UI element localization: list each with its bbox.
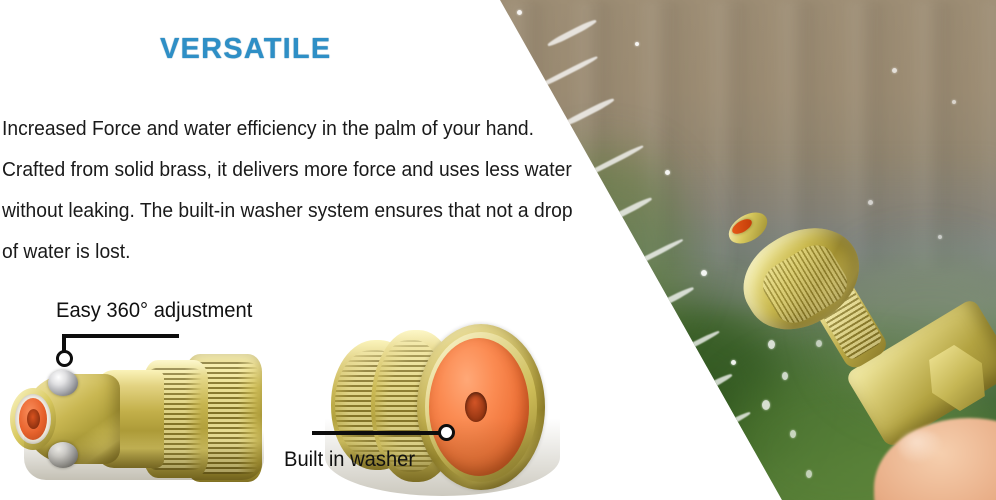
washer-center-hole <box>465 392 487 422</box>
annotation-label-easy-360-adjustment: Easy 360° adjustment <box>56 299 252 323</box>
water-droplet <box>868 200 873 205</box>
water-droplet <box>938 235 942 239</box>
nozzle-orifice <box>27 409 40 429</box>
brass-nozzle-rear-view <box>325 322 560 500</box>
water-streak <box>593 196 653 230</box>
water-streak <box>627 389 672 414</box>
annotation-label-built-in-washer: Built in washer <box>284 448 415 472</box>
water-droplet <box>609 440 615 446</box>
water-streak <box>536 55 599 90</box>
water-streak <box>703 410 752 438</box>
water-streak <box>578 144 644 181</box>
body-copy-line: of water is lost. <box>2 231 552 272</box>
water-droplet <box>952 100 956 104</box>
hand-highlight <box>898 430 944 464</box>
water-streak <box>656 329 721 365</box>
water-droplet <box>517 10 522 15</box>
water-droplet <box>782 372 788 380</box>
water-droplet <box>701 270 707 276</box>
body-copy-line: without leaking. The built-in washer sys… <box>2 190 552 231</box>
ball-bearing-icon <box>48 442 78 468</box>
water-droplet <box>577 330 582 335</box>
ball-bearing-icon <box>48 370 78 396</box>
brass-nozzle-side-view <box>0 350 270 500</box>
water-streak <box>679 372 733 404</box>
page-title: VERSATILE <box>160 33 331 66</box>
water-droplet <box>748 452 755 461</box>
water-droplet <box>816 340 822 347</box>
water-droplet <box>768 340 775 349</box>
water-droplet <box>892 68 897 73</box>
water-streak <box>547 18 598 48</box>
water-droplet <box>665 170 670 175</box>
water-droplet <box>762 400 770 410</box>
water-droplet <box>806 470 812 478</box>
water-droplet <box>655 480 659 484</box>
water-droplet <box>635 42 639 46</box>
annotation-leader-line-horizontal <box>312 431 446 435</box>
body-copy-line: Crafted from solid brass, it delivers mo… <box>2 149 552 190</box>
water-streak <box>633 285 695 320</box>
annotation-marker-icon <box>438 424 455 441</box>
body-copy-line: Increased Force and water efficiency in … <box>2 108 552 149</box>
water-droplet <box>731 360 736 365</box>
water-streak <box>612 238 684 278</box>
body-copy: Increased Force and water efficiency in … <box>2 108 587 272</box>
annotation-leader-line-horizontal <box>62 334 179 338</box>
marketing-banner: VERSATILE Increased Force and water effi… <box>0 0 996 500</box>
water-droplet <box>790 430 796 438</box>
